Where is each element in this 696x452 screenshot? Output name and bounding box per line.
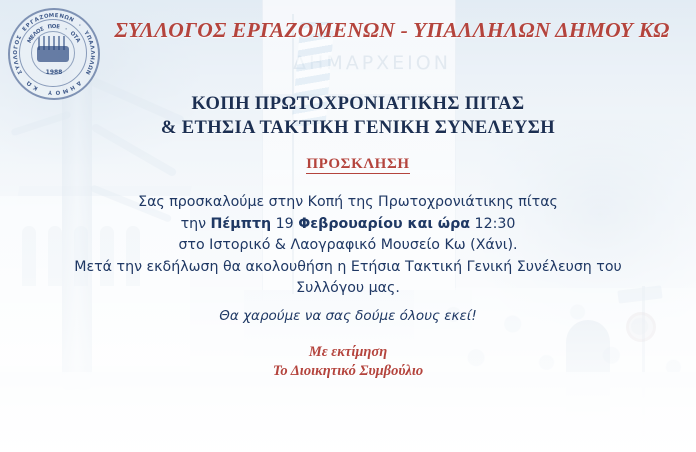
body-line-1: Σας προσκαλούμε στην Κοπή της Πρωτοχρονι… bbox=[48, 192, 648, 214]
signoff-block: Με εκτίμηση Το Διοικητικό Συμβούλιο bbox=[48, 343, 648, 381]
closing-cheer-line: Θα χαρούμε να σας δούμε όλους εκεί! bbox=[48, 308, 648, 324]
body-line-2-weekday: Πέμπτη bbox=[211, 216, 272, 232]
event-title-line-2: & ΕΤΗΣΙΑ ΤΑΚΤΙΚΗ ΓΕΝΙΚΗ ΣΥΝΕΛΕΥΣΗ bbox=[58, 116, 658, 140]
event-title: ΚΟΠΗ ΠΡΩΤΟΧΡΟΝΙΑΤΙΚΗΣ ΠΙΤΑΣ & ΕΤΗΣΙΑ ΤΑΚ… bbox=[58, 92, 658, 140]
organization-title: ΣΥΛΛΟΓΟΣ ΕΡΓΑΖΟΜΕΝΩΝ - ΥΠΑΛΛΗΛΩΝ ΔΗΜΟΥ Κ… bbox=[96, 18, 688, 43]
body-line-2-month-time-label: Φεβρουαρίου και ώρα bbox=[298, 216, 470, 232]
body-line-5: Συλλόγου μας. bbox=[48, 278, 648, 300]
event-title-line-1: ΚΟΠΗ ΠΡΩΤΟΧΡΟΝΙΑΤΙΚΗΣ ΠΙΤΑΣ bbox=[58, 92, 658, 116]
seal-year: 1988 bbox=[10, 69, 98, 76]
body-line-2-time: 12:30 bbox=[470, 216, 515, 232]
invitation-heading-text: ΠΡΟΣΚΛΗΣΗ bbox=[306, 156, 409, 174]
invitation-body: Σας προσκαλούμε στην Κοπή της Πρωτοχρονι… bbox=[48, 192, 648, 300]
seal-perimeter-text: ΣΥΛΛΟΓΟΣ ΕΡΓΑΖΟΜΕΝΩΝ · ΥΠΑΛΛΗΛΩΝΔΗΜΟΥ ΚΩ… bbox=[10, 10, 98, 98]
body-line-2-pre: την bbox=[181, 216, 211, 232]
body-line-4: Μετά την εκδήλωση θα ακολουθήση η Ετήσια… bbox=[48, 257, 648, 279]
invitation-poster: ΔΗΜΑΡΧΕΙΟΝ ΣΥΛΛΟΓΟΣ ΕΡΓΑΖΟΜΕΝΩΝ · ΥΠΑΛΛΗ… bbox=[0, 0, 696, 452]
body-line-3-venue: στο Ιστορικό & Λαογραφικό Μουσείο Κω (Χά… bbox=[48, 235, 648, 257]
invitation-heading: ΠΡΟΣΚΛΗΣΗ bbox=[58, 153, 658, 173]
association-seal-logo: ΣΥΛΛΟΓΟΣ ΕΡΓΑΖΟΜΕΝΩΝ · ΥΠΑΛΛΗΛΩΝΔΗΜΟΥ ΚΩ… bbox=[8, 8, 100, 100]
signoff-line-1: Με εκτίμηση bbox=[48, 343, 648, 362]
signoff-line-2: Το Διοικητικό Συμβούλιο bbox=[48, 362, 648, 381]
body-line-2: την Πέμπτη 19 Φεβρουαρίου και ώρα 12:30 bbox=[48, 214, 648, 236]
body-line-2-daynumber: 19 bbox=[271, 216, 298, 232]
